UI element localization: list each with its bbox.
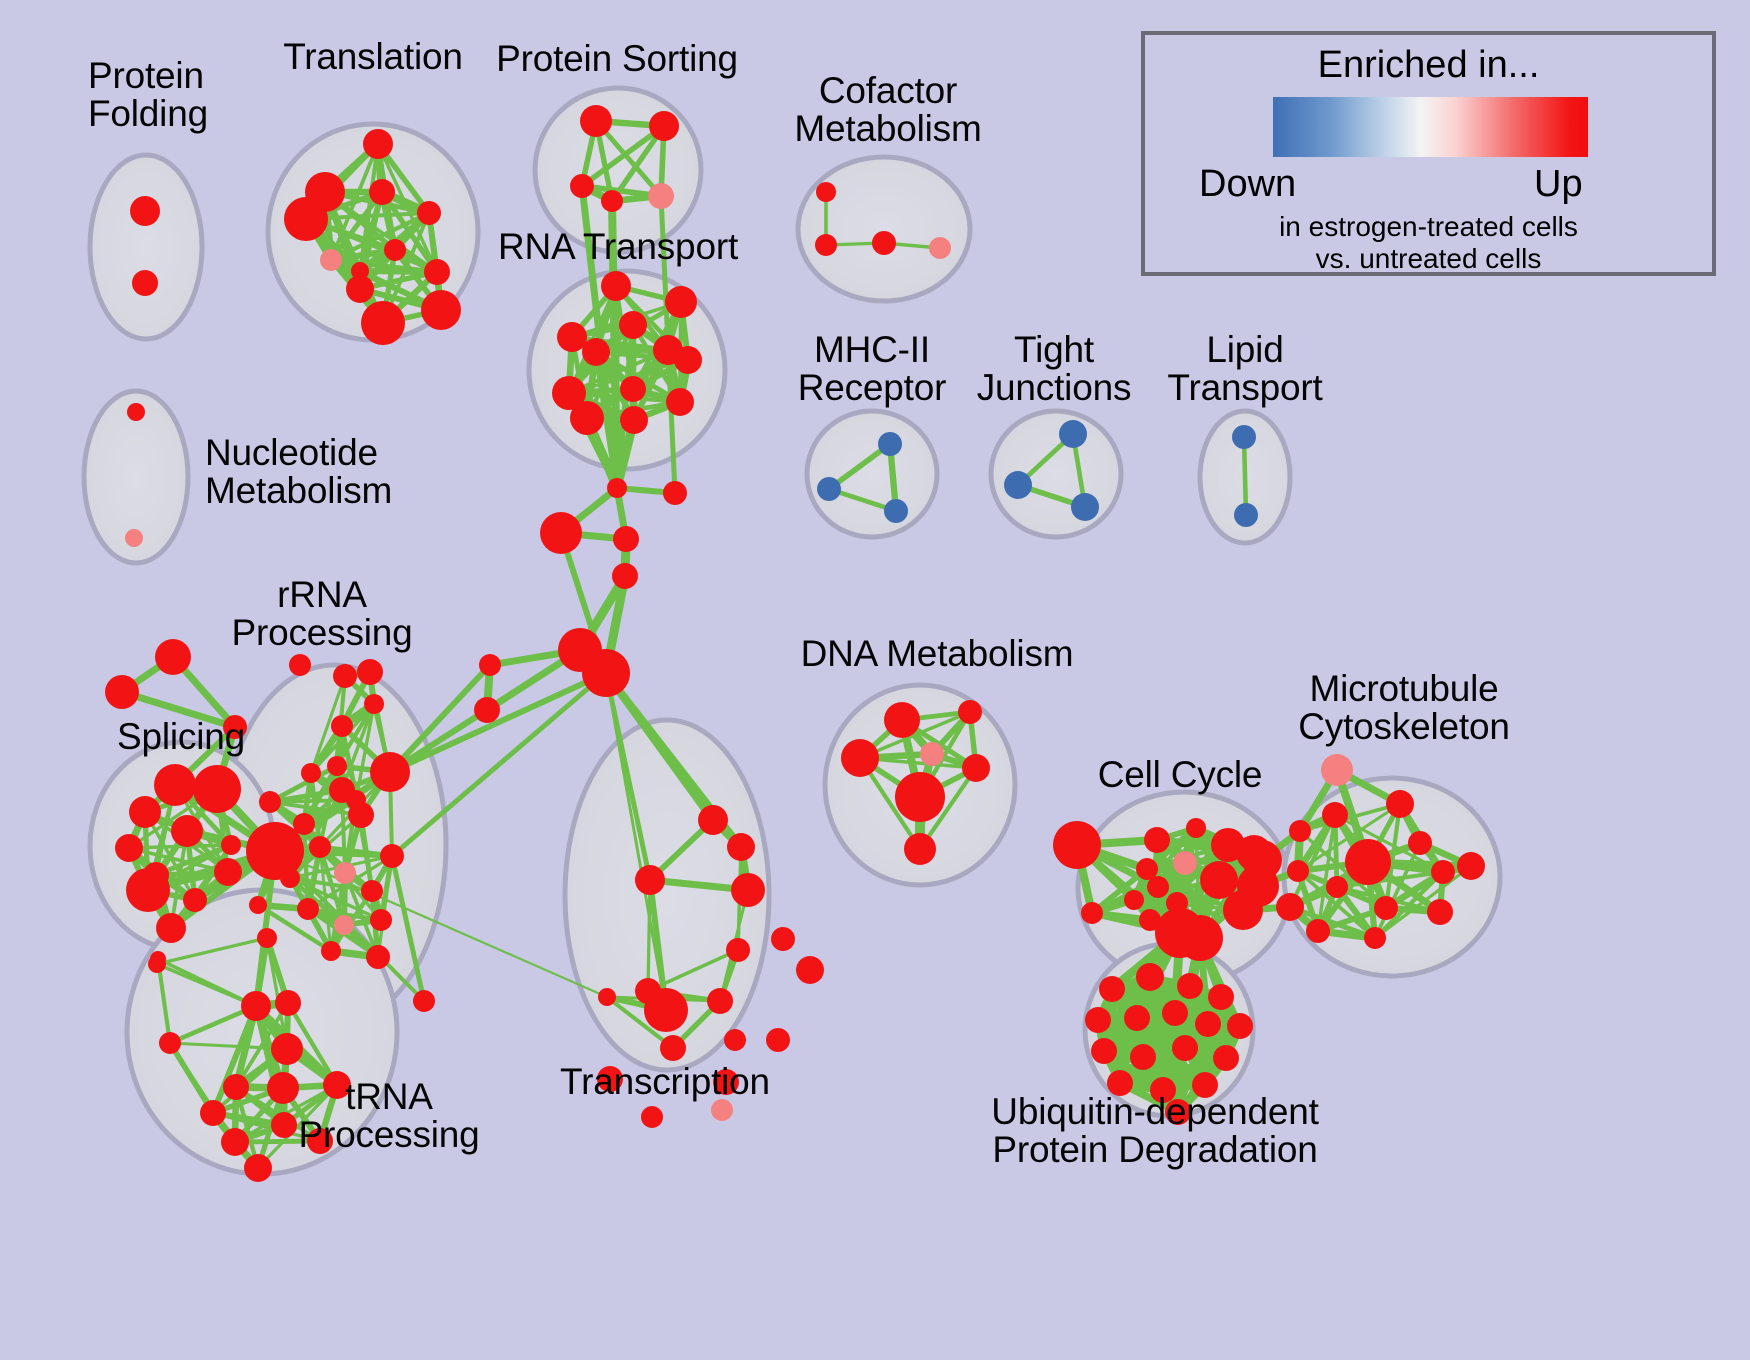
network-node[interactable] — [363, 129, 393, 159]
network-node[interactable] — [601, 190, 623, 212]
cluster-label-translation: Translation — [283, 38, 462, 76]
network-node[interactable] — [929, 237, 951, 259]
network-node[interactable] — [129, 796, 161, 828]
cluster-label-ubiquitin-protein-degradation: Ubiquitin-dependent Protein Degradation — [991, 1093, 1318, 1168]
network-node[interactable] — [601, 271, 631, 301]
network-node[interactable] — [221, 1128, 249, 1156]
legend-high-label: Up — [1534, 163, 1583, 206]
network-node[interactable] — [1177, 915, 1223, 961]
network-node[interactable] — [1085, 1007, 1111, 1033]
network-node[interactable] — [698, 805, 728, 835]
network-node[interactable] — [766, 1028, 790, 1052]
legend-color-bar — [1273, 97, 1588, 157]
network-node[interactable] — [582, 338, 610, 366]
cluster-label-splicing: Splicing — [117, 718, 245, 756]
network-node[interactable] — [156, 913, 186, 943]
network-node[interactable] — [962, 754, 990, 782]
network-node[interactable] — [284, 197, 328, 241]
network-node[interactable] — [726, 938, 750, 962]
network-node[interactable] — [663, 481, 687, 505]
cluster-label-dna-metabolism: DNA Metabolism — [801, 635, 1074, 673]
network-node[interactable] — [620, 406, 648, 434]
network-node[interactable] — [1053, 821, 1101, 869]
network-node[interactable] — [619, 311, 647, 339]
network-node[interactable] — [115, 834, 143, 862]
network-node[interactable] — [711, 1099, 733, 1121]
network-node[interactable] — [1213, 1045, 1239, 1071]
cluster-label-mhc-ii-receptor: MHC-II Receptor — [798, 331, 947, 406]
network-node[interactable] — [1124, 1005, 1150, 1031]
network-node[interactable] — [649, 111, 679, 141]
network-node[interactable] — [380, 844, 404, 868]
network-node[interactable] — [132, 270, 158, 296]
network-node[interactable] — [357, 659, 383, 685]
network-node[interactable] — [635, 865, 665, 895]
cluster-label-lipid-transport: Lipid Transport — [1167, 331, 1322, 406]
network-node[interactable] — [1004, 471, 1032, 499]
network-node[interactable] — [613, 526, 639, 552]
network-node[interactable] — [1345, 839, 1391, 885]
network-node[interactable] — [479, 654, 501, 676]
network-node[interactable] — [126, 868, 170, 912]
network-node[interactable] — [334, 862, 356, 884]
network-node[interactable] — [424, 259, 450, 285]
network-node[interactable] — [223, 1074, 249, 1100]
network-node[interactable] — [267, 1072, 299, 1104]
network-node[interactable] — [327, 756, 347, 776]
network-node[interactable] — [366, 945, 390, 969]
network-node[interactable] — [127, 403, 145, 421]
network-node[interactable] — [904, 833, 936, 865]
network-node[interactable] — [727, 833, 755, 861]
network-node[interactable] — [1364, 927, 1386, 949]
network-node[interactable] — [884, 702, 920, 738]
network-node[interactable] — [361, 301, 405, 345]
network-node[interactable] — [872, 231, 896, 255]
network-node[interactable] — [1289, 820, 1311, 842]
network-node[interactable] — [1326, 876, 1348, 898]
network-node[interactable] — [301, 763, 321, 783]
network-node[interactable] — [1322, 802, 1348, 828]
network-node[interactable] — [771, 927, 795, 951]
network-node[interactable] — [1136, 963, 1164, 991]
network-node[interactable] — [334, 915, 354, 935]
cluster-label-cell-cycle: Cell Cycle — [1098, 756, 1263, 794]
network-node[interactable] — [361, 880, 383, 902]
network-node[interactable] — [193, 765, 241, 813]
network-node[interactable] — [660, 1035, 686, 1061]
network-node[interactable] — [171, 815, 203, 847]
network-node[interactable] — [920, 742, 944, 766]
network-node[interactable] — [289, 654, 311, 676]
network-node[interactable] — [259, 791, 281, 813]
network-node[interactable] — [1059, 420, 1087, 448]
network-node[interactable] — [674, 346, 702, 374]
network-node[interactable] — [1227, 1013, 1253, 1039]
cluster-label-nucleotide-metabolism: Nucleotide Metabolism — [205, 434, 392, 509]
network-node[interactable] — [666, 388, 694, 416]
network-node[interactable] — [707, 988, 733, 1014]
network-node[interactable] — [275, 990, 301, 1016]
network-node[interactable] — [540, 512, 582, 554]
network-node[interactable] — [1124, 890, 1144, 910]
network-node[interactable] — [150, 951, 166, 967]
cluster-label-protein-folding: Protein Folding — [88, 57, 208, 132]
cluster-label-protein-sorting: Protein Sorting — [496, 40, 738, 78]
network-node[interactable] — [724, 1029, 746, 1051]
network-node[interactable] — [320, 249, 342, 271]
network-node[interactable] — [1186, 818, 1206, 838]
network-node[interactable] — [1306, 919, 1330, 943]
network-node[interactable] — [1172, 1035, 1198, 1061]
network-node[interactable] — [607, 478, 627, 498]
network-node[interactable] — [878, 432, 902, 456]
network-node[interactable] — [570, 174, 594, 198]
network-node[interactable] — [648, 183, 674, 209]
cluster-ellipse-cofactor-metabolism — [798, 157, 970, 301]
network-node[interactable] — [271, 1033, 303, 1065]
network-node[interactable] — [1321, 754, 1353, 786]
network-node[interactable] — [257, 928, 277, 948]
network-node[interactable] — [321, 941, 341, 961]
network-node[interactable] — [1287, 860, 1309, 882]
cluster-ellipse-protein-folding — [90, 155, 202, 339]
network-node[interactable] — [582, 649, 630, 697]
cluster-label-tight-junctions: Tight Junctions — [977, 331, 1132, 406]
network-node[interactable] — [1162, 1000, 1188, 1026]
network-node[interactable] — [612, 563, 638, 589]
network-node[interactable] — [815, 234, 837, 256]
network-node[interactable] — [557, 322, 587, 352]
network-node[interactable] — [309, 836, 331, 858]
cluster-label-transcription: Transcription — [560, 1063, 770, 1101]
network-node[interactable] — [1457, 852, 1485, 880]
network-node[interactable] — [598, 988, 616, 1006]
legend-title: Enriched in... — [1145, 44, 1712, 87]
network-node[interactable] — [895, 772, 945, 822]
network-node[interactable] — [1173, 851, 1197, 875]
legend-subtitle: in estrogen-treated cells vs. untreated … — [1145, 211, 1712, 275]
network-node[interactable] — [413, 990, 435, 1012]
network-node[interactable] — [244, 1154, 272, 1182]
network-node[interactable] — [297, 898, 319, 920]
network-node[interactable] — [271, 1112, 297, 1138]
network-node[interactable] — [1144, 827, 1170, 853]
network-node[interactable] — [1099, 976, 1125, 1002]
network-node[interactable] — [346, 275, 374, 303]
network-node[interactable] — [884, 499, 908, 523]
network-node[interactable] — [474, 697, 500, 723]
network-node[interactable] — [570, 401, 604, 435]
network-node[interactable] — [417, 201, 441, 225]
cluster-label-trna-processing: tRNA Processing — [298, 1078, 479, 1153]
network-node[interactable] — [641, 1106, 663, 1128]
network-node[interactable] — [1195, 1011, 1221, 1037]
network-node[interactable] — [1081, 902, 1103, 924]
network-node[interactable] — [1130, 1044, 1156, 1070]
network-edge — [616, 286, 617, 488]
network-node[interactable] — [958, 700, 982, 724]
network-node[interactable] — [241, 991, 271, 1021]
legend-box: Enriched in... Down Up in estrogen-treat… — [1141, 31, 1716, 276]
network-node[interactable] — [1427, 899, 1453, 925]
network-node[interactable] — [1276, 893, 1304, 921]
network-node[interactable] — [333, 664, 357, 688]
network-node[interactable] — [620, 376, 646, 402]
network-node[interactable] — [280, 868, 300, 888]
network-node[interactable] — [105, 675, 139, 709]
network-node[interactable] — [1386, 790, 1414, 818]
network-node[interactable] — [331, 715, 353, 737]
network-node[interactable] — [369, 179, 395, 205]
network-node[interactable] — [183, 888, 207, 912]
network-node[interactable] — [221, 835, 241, 855]
cluster-label-cofactor-metabolism: Cofactor Metabolism — [794, 72, 981, 147]
network-node[interactable] — [384, 239, 406, 261]
network-node[interactable] — [155, 639, 191, 675]
network-node[interactable] — [1071, 493, 1099, 521]
cluster-label-microtubule-cytoskeleton: Microtubule Cytoskeleton — [1298, 670, 1510, 745]
network-node[interactable] — [1223, 890, 1263, 930]
network-node[interactable] — [1374, 896, 1398, 920]
cluster-label-rrna-processing: rRNA Processing — [231, 576, 412, 651]
network-node[interactable] — [125, 529, 143, 547]
network-node[interactable] — [249, 896, 267, 914]
network-node[interactable] — [370, 752, 410, 792]
network-node[interactable] — [580, 105, 612, 137]
network-node[interactable] — [154, 764, 196, 806]
network-node[interactable] — [1208, 984, 1234, 1010]
network-node[interactable] — [816, 182, 836, 202]
network-node[interactable] — [1431, 860, 1455, 884]
network-node[interactable] — [1234, 503, 1258, 527]
network-node[interactable] — [1147, 876, 1169, 898]
network-node[interactable] — [796, 956, 824, 984]
cluster-ellipse-mhc-ii-receptor — [807, 411, 937, 537]
network-node[interactable] — [130, 196, 160, 226]
network-node[interactable] — [200, 1100, 226, 1126]
cluster-label-rna-transport: RNA Transport — [498, 228, 738, 266]
network-node[interactable] — [1177, 973, 1203, 999]
enrichment-network-figure: Protein FoldingTranslationProtein Sortin… — [0, 0, 1750, 1360]
network-node[interactable] — [159, 1032, 181, 1054]
network-node[interactable] — [370, 909, 392, 931]
network-node[interactable] — [1091, 1038, 1117, 1064]
network-node[interactable] — [644, 988, 688, 1032]
network-node[interactable] — [214, 858, 242, 886]
network-node[interactable] — [346, 790, 366, 810]
network-node[interactable] — [841, 739, 879, 777]
network-node[interactable] — [665, 286, 697, 318]
network-node[interactable] — [1232, 425, 1256, 449]
legend-low-label: Down — [1199, 163, 1296, 206]
network-node[interactable] — [1408, 831, 1432, 855]
network-edge — [390, 673, 606, 772]
network-node[interactable] — [364, 694, 384, 714]
network-node[interactable] — [817, 477, 841, 501]
network-node[interactable] — [421, 290, 461, 330]
network-node[interactable] — [731, 873, 765, 907]
